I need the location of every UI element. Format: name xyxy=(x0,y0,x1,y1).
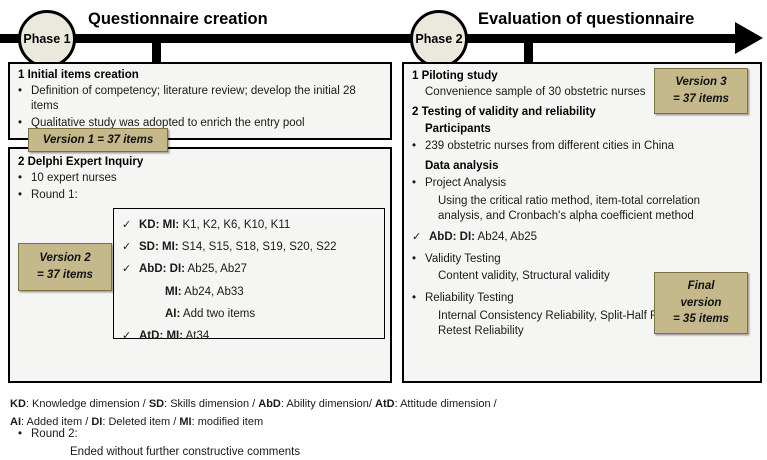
bullet-icon: • xyxy=(412,139,425,154)
list-item: • 239 obstetric nurses from different ci… xyxy=(412,139,752,154)
result-row: ✓ AbD: DI: Ab24, Ab25 xyxy=(412,230,752,245)
version-3-line1: Version 3 xyxy=(675,74,726,91)
phase-1-label: Phase 1 xyxy=(23,32,70,46)
legend-mi-text: : modified item xyxy=(192,416,264,428)
result-abd-mi: MI: Ab24, Ab33 xyxy=(139,285,376,300)
result-abd-mi-items: Ab24, Ab33 xyxy=(182,286,244,298)
check-icon: ✓ xyxy=(122,218,139,233)
legend-ai-code: AI xyxy=(10,416,21,428)
list-item: • Validity Testing xyxy=(412,252,752,267)
phase-2-badge: Phase 2 xyxy=(410,10,468,68)
result-sd-items: S14, S15, S18, S19, S20, S22 xyxy=(179,241,337,253)
bullet-icon: • xyxy=(412,291,425,306)
final-version-line3: = 35 items xyxy=(673,311,729,328)
legend-ai-text: : Added item / xyxy=(21,416,91,428)
version-2-line1: Version 2 xyxy=(39,250,90,267)
phase2-connector-line xyxy=(524,34,533,64)
result-abd-di: AbD: DI: Ab25, Ab27 xyxy=(139,262,376,277)
check-placeholder xyxy=(122,285,139,300)
result-abd-ai-code: AI: xyxy=(165,308,180,320)
result-row: ✓ SD: MI: S14, S15, S18, S19, S20, S22 xyxy=(122,240,376,255)
legend-di-code: DI xyxy=(91,416,102,428)
legend-atd-text: : Attitude dimension / xyxy=(395,398,497,410)
phase1-connector-line xyxy=(152,34,161,64)
abd-result: AbD: DI: Ab24, Ab25 xyxy=(429,230,752,245)
legend-di-text: : Deleted item / xyxy=(102,416,179,428)
piloting-study-text-row: Convenience sample of 30 obstetric nurse… xyxy=(412,85,652,100)
round-2-text: Ended without further constructive comme… xyxy=(70,445,388,460)
check-icon: ✓ xyxy=(122,240,139,255)
piloting-study-text: Convenience sample of 30 obstetric nurse… xyxy=(425,85,652,100)
project-analysis-text-row: Using the critical ratio method, item-to… xyxy=(412,194,722,224)
result-kd-code: KD: MI: xyxy=(139,219,179,231)
delphi-round1-results-box: ✓ KD: MI: K1, K2, K6, K10, K11 ✓ SD: MI:… xyxy=(113,208,385,339)
check-icon: ✓ xyxy=(412,230,429,245)
phase-2-label: Phase 2 xyxy=(415,32,462,46)
legend-atd-code: AtD xyxy=(375,398,395,410)
legend-line-1: KD: Knowledge dimension / SD: Skills dim… xyxy=(10,396,750,414)
check-icon: ✓ xyxy=(122,329,139,344)
result-sd: SD: MI: S14, S15, S18, S19, S20, S22 xyxy=(139,240,376,255)
result-row: ✓ AtD: MI: At34 xyxy=(122,329,376,344)
version-1-line1: Version 1 = 37 items xyxy=(43,132,153,149)
result-abd-ai: AI: Add two items xyxy=(139,307,376,322)
result-sd-code: SD: MI: xyxy=(139,241,179,253)
result-abd-di-items: Ab25, Ab27 xyxy=(185,263,247,275)
data-analysis-label: Data analysis xyxy=(412,160,752,172)
list-item: • 10 expert nurses xyxy=(18,171,382,186)
legend: KD: Knowledge dimension / SD: Skills dim… xyxy=(10,396,750,431)
final-version-line1: Final xyxy=(688,278,715,295)
delphi-bullet-2-round1: Round 1: xyxy=(31,188,382,203)
round-2-block: • Round 2: Ended without further constru… xyxy=(18,427,388,460)
final-version-line2: version xyxy=(681,295,722,312)
phase-1-badge: Phase 1 xyxy=(18,10,76,68)
validity-testing-label: Validity Testing xyxy=(425,252,752,267)
bullet-icon: • xyxy=(412,176,425,191)
participants-text: 239 obstetric nurses from different citi… xyxy=(425,139,752,154)
legend-line-2: AI: Added item / DI: Deleted item / MI: … xyxy=(10,414,750,432)
bullet-icon: • xyxy=(412,252,425,267)
legend-abd-text: : Ability dimension/ xyxy=(281,398,375,410)
phase-1-title: Questionnaire creation xyxy=(88,10,268,29)
project-analysis-text: Using the critical ratio method, item-to… xyxy=(438,194,722,224)
legend-kd-text: : Knowledge dimension / xyxy=(26,398,149,410)
bullet-icon: • xyxy=(18,84,31,114)
result-atd-code: AtD: MI: xyxy=(139,330,183,342)
version-2-line2: = 37 items xyxy=(37,267,93,284)
result-row: AI: Add two items xyxy=(122,307,376,322)
abd-result-code: AbD: DI: xyxy=(429,231,475,243)
result-atd-items: At34 xyxy=(183,330,209,342)
legend-kd-code: KD xyxy=(10,398,26,410)
diagram-root: Phase 1 Questionnaire creation Phase 2 E… xyxy=(0,0,767,436)
timeline-arrow-shaft xyxy=(0,34,740,43)
legend-sd-code: SD xyxy=(149,398,164,410)
legend-abd-code: AbD xyxy=(258,398,281,410)
version-2-badge: Version 2 = 37 items xyxy=(18,243,112,291)
legend-sd-text: : Skills dimension / xyxy=(164,398,258,410)
result-kd-items: K1, K2, K6, K10, K11 xyxy=(179,219,290,231)
phase-2-title: Evaluation of questionnaire xyxy=(478,10,694,29)
list-item: • Round 1: xyxy=(18,188,382,203)
check-icon: ✓ xyxy=(122,262,139,277)
legend-mi-code: MI xyxy=(179,416,191,428)
version-1-badge: Version 1 = 37 items xyxy=(28,128,168,152)
result-row: MI: Ab24, Ab33 xyxy=(122,285,376,300)
result-kd: KD: MI: K1, K2, K6, K10, K11 xyxy=(139,218,376,233)
project-analysis-label: Project Analysis xyxy=(425,176,752,191)
delphi-bullet-1: 10 expert nurses xyxy=(31,171,382,186)
result-atd: AtD: MI: At34 xyxy=(139,329,376,344)
version-3-line2: = 37 items xyxy=(673,91,729,108)
round-2-text-row: Ended without further constructive comme… xyxy=(18,445,388,460)
result-abd-di-code: AbD: DI: xyxy=(139,263,185,275)
result-row: ✓ KD: MI: K1, K2, K6, K10, K11 xyxy=(122,218,376,233)
delphi-expert-inquiry-title: 2 Delphi Expert Inquiry xyxy=(18,156,382,168)
timeline-arrow-head-icon xyxy=(735,22,763,54)
initial-bullet-1: Definition of competency; literature rev… xyxy=(31,84,382,114)
result-abd-mi-code: MI: xyxy=(165,286,182,298)
result-abd-ai-items: Add two items xyxy=(180,308,255,320)
final-version-badge: Final version = 35 items xyxy=(654,272,748,334)
participants-label: Participants xyxy=(412,123,752,135)
list-item: • Project Analysis xyxy=(412,176,752,191)
bullet-icon: • xyxy=(18,188,31,203)
version-3-badge: Version 3 = 37 items xyxy=(654,68,748,114)
check-placeholder xyxy=(122,307,139,322)
result-row: ✓ AbD: DI: Ab25, Ab27 xyxy=(122,262,376,277)
bullet-icon: • xyxy=(18,171,31,186)
list-item: • Definition of competency; literature r… xyxy=(18,84,382,114)
abd-result-items: Ab24, Ab25 xyxy=(475,231,537,243)
initial-items-creation-title: 1 Initial items creation xyxy=(18,69,382,81)
